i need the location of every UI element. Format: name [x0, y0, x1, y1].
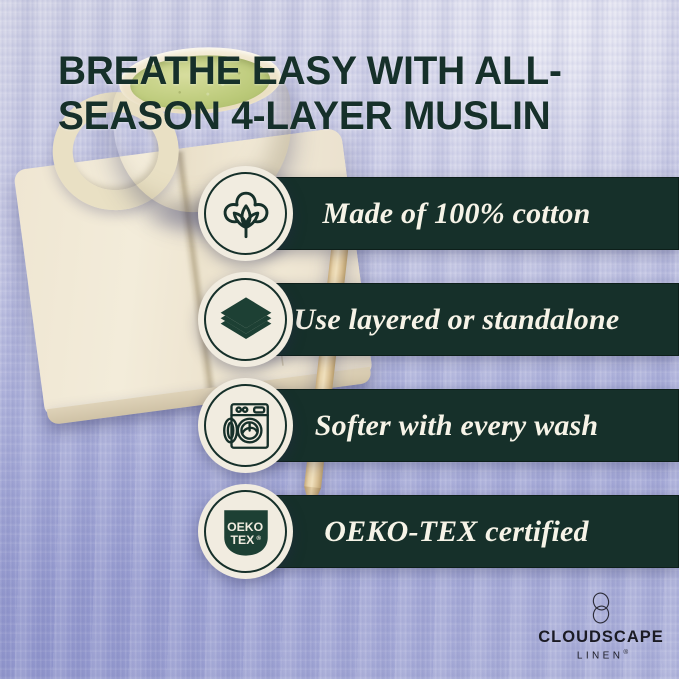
feature-row: Made of 100% cotton [0, 177, 679, 250]
feature-row: Softer with every wash [0, 389, 679, 462]
feature-row: Use layered or standalone [0, 283, 679, 356]
brand-subtitle-text: LINEN [577, 650, 623, 661]
feature-list: Made of 100% cotton [0, 177, 679, 601]
feature-row: OEKO-TEX certified OEKO TEX ® [0, 495, 679, 568]
feature-badge-wash [198, 378, 293, 473]
infinity-loop-icon [588, 591, 614, 625]
feature-bar-oekotex: OEKO-TEX certified [248, 495, 679, 568]
feature-label: Softer with every wash [249, 409, 678, 443]
feature-label: Use layered or standalone [249, 303, 678, 337]
feature-badge-layers [198, 272, 293, 367]
brand-name: CLOUDSCAPE [537, 629, 665, 646]
layers-stack-icon [217, 291, 275, 349]
feature-label: OEKO-TEX certified [249, 515, 678, 549]
oeko-seal-registered: ® [256, 534, 261, 542]
brand-subtitle: LINEN® [537, 650, 665, 661]
feature-bar-layers: Use layered or standalone [248, 283, 679, 356]
feature-badge-oekotex: OEKO TEX ® [198, 484, 293, 579]
headline-line-1: Breathe easy with all- [58, 49, 562, 93]
product-infographic: Breathe easy with all- season 4-layer mu… [0, 0, 679, 679]
feature-label: Made of 100% cotton [249, 197, 678, 231]
brand-logo: CLOUDSCAPE LINEN® [537, 591, 665, 661]
washing-machine-icon [217, 397, 275, 455]
oeko-seal-line-2: TEX [230, 532, 255, 546]
brand-registered-mark: ® [623, 649, 628, 656]
feature-bar-wash: Softer with every wash [248, 389, 679, 462]
page-title: Breathe easy with all- season 4-layer mu… [58, 49, 640, 139]
oeko-tex-seal-icon: OEKO TEX ® [217, 503, 275, 561]
cotton-boll-icon [217, 185, 275, 243]
headline-line-2: season 4-layer muslin [58, 94, 551, 138]
feature-badge-cotton [198, 166, 293, 261]
feature-bar-cotton: Made of 100% cotton [248, 177, 679, 250]
